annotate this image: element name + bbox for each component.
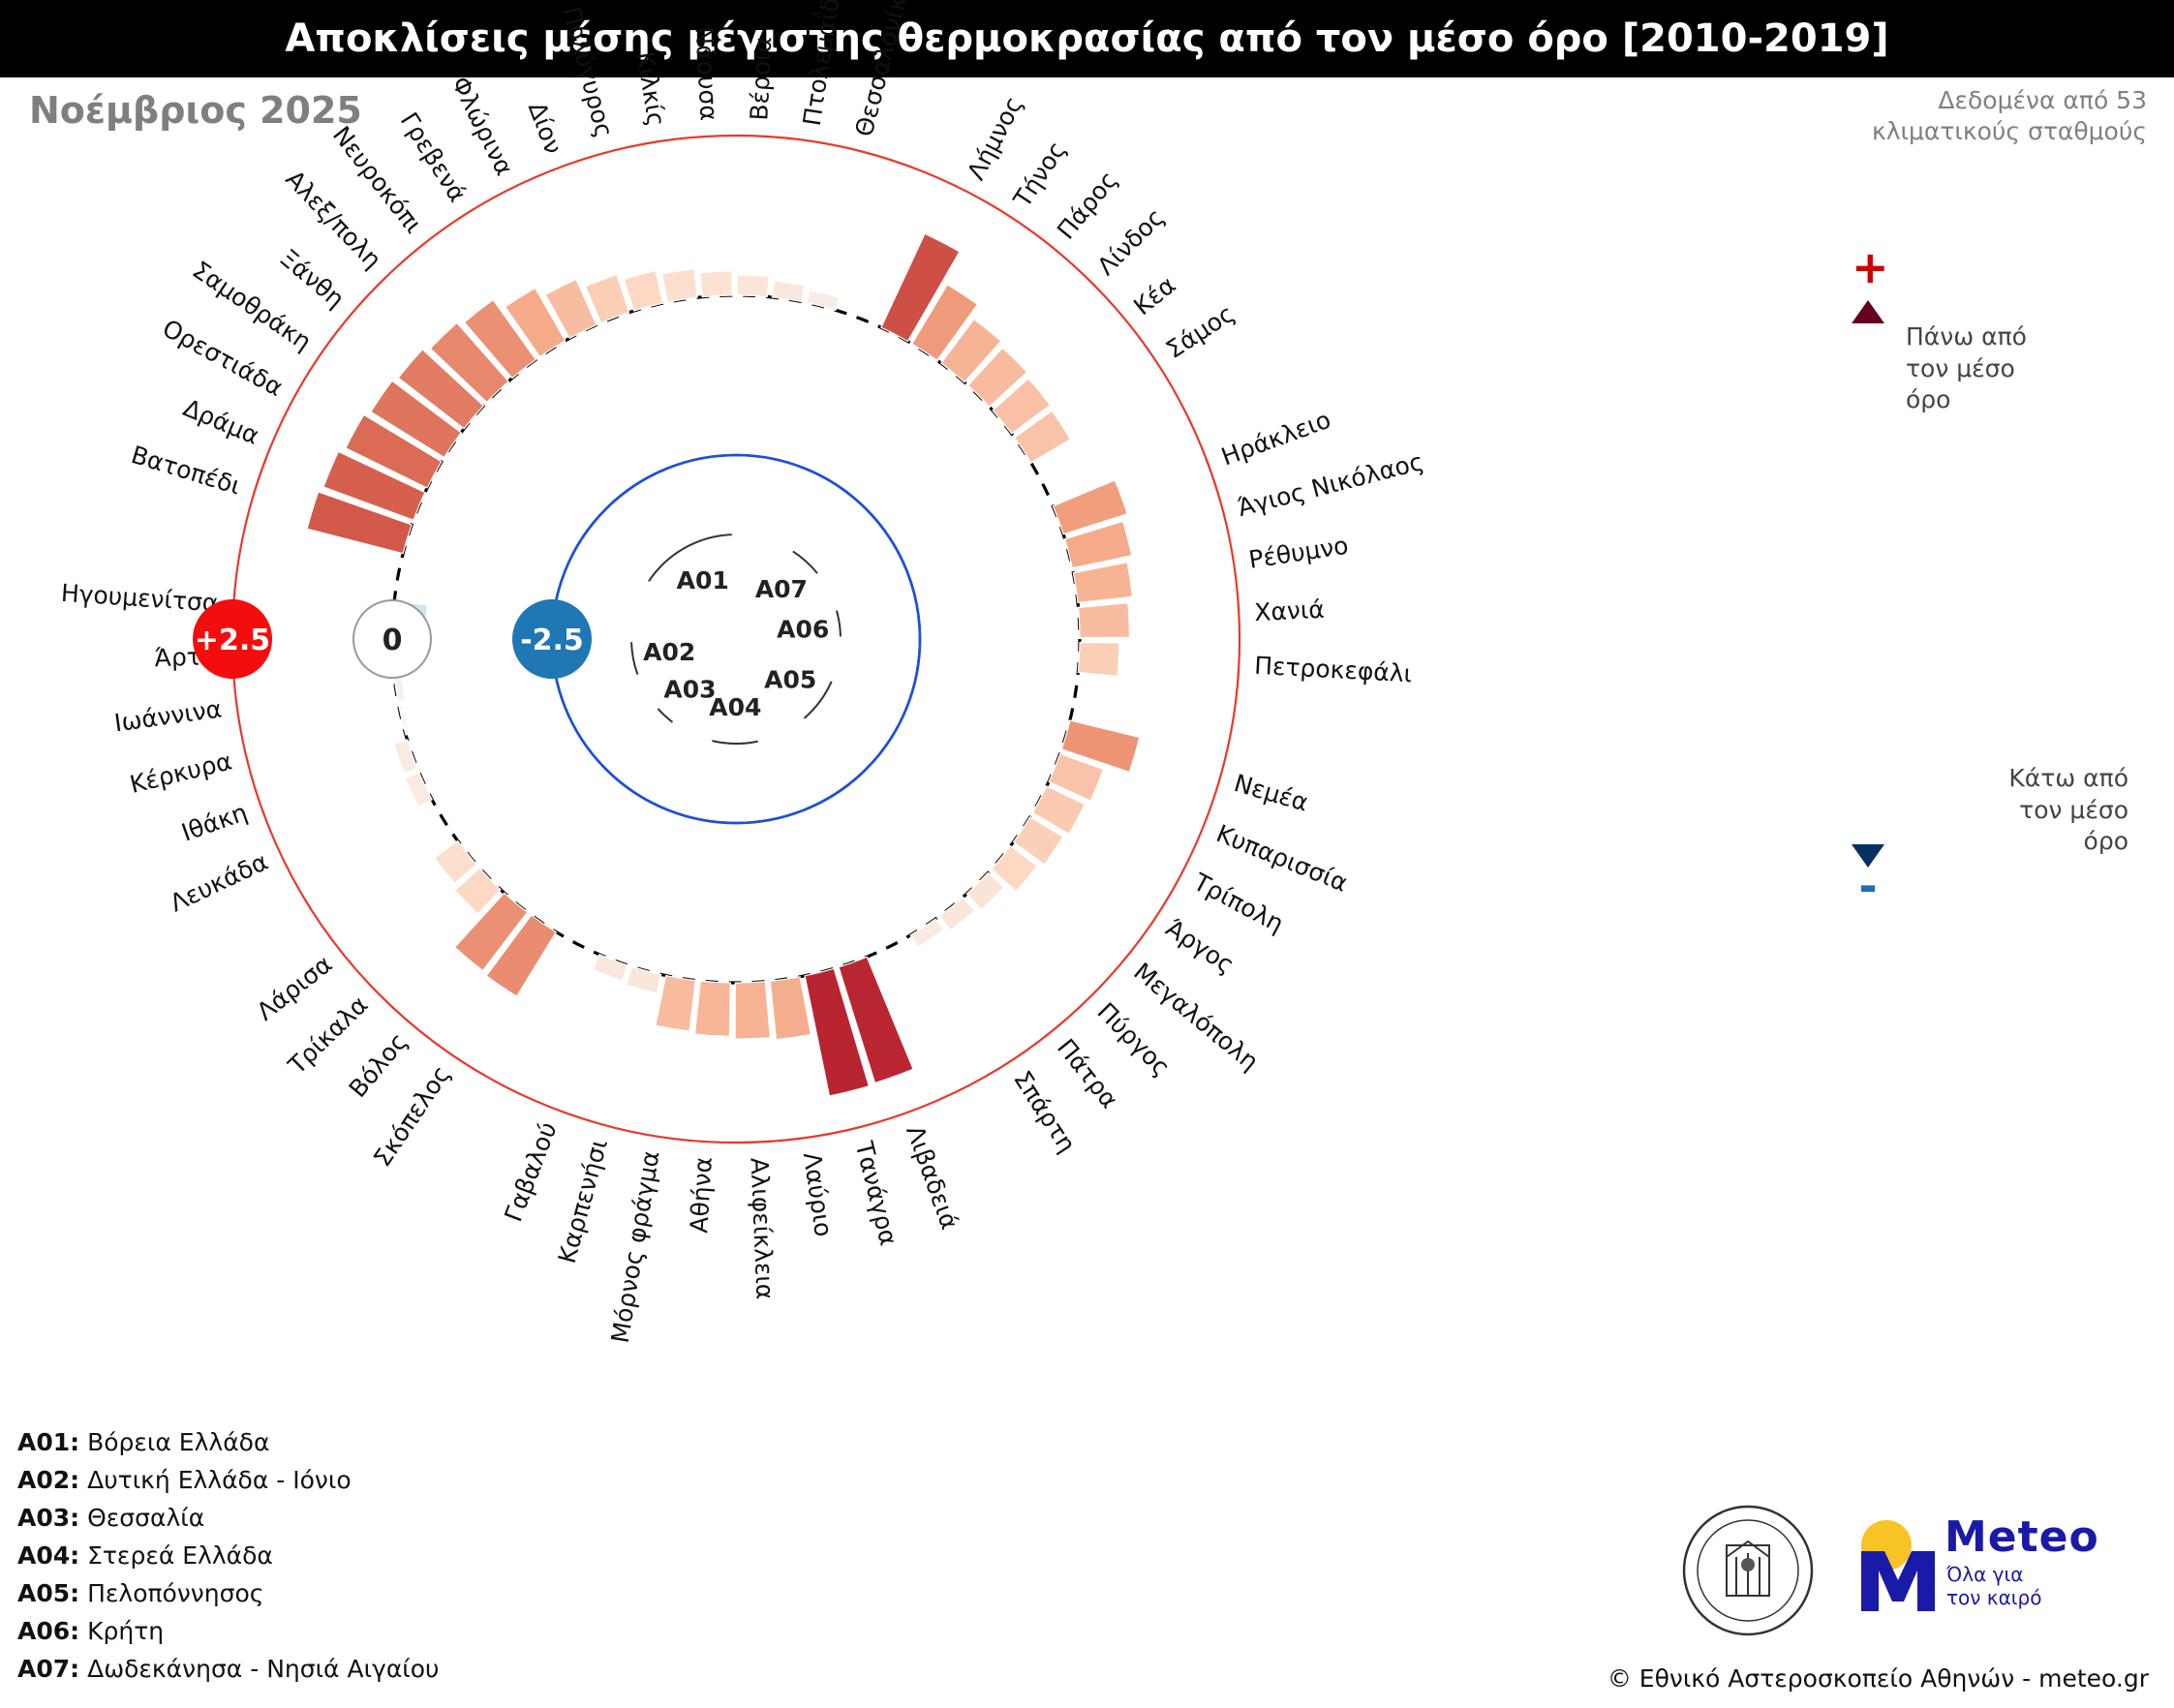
bar-segment[interactable] [807,290,840,311]
bar-segment[interactable] [593,955,628,981]
region-key-row: A04: Στερεά Ελλάδα [17,1537,440,1574]
station-label: Δράμα [179,393,263,449]
station-label: Ρέθυμνο [1247,532,1351,574]
footer-credit: © Εθνικό Αστεροσκοπείο Αθηνών - meteo.gr [1608,1664,2149,1693]
region-key-code: A06: [17,1617,79,1645]
station-label: Άγιος Νικόλαος [1235,447,1426,522]
legend-arrow-top [1852,300,1884,323]
station-label: Κέα [1128,271,1180,321]
color-legend: + - Πάνω από τον μέσο όρο Κάτω από τον μ… [1830,271,2150,930]
legend-colorbar [1852,321,1884,844]
station-label: Άργος [1161,914,1240,979]
region-key-row: A06: Κρήτη [17,1612,440,1650]
station-label: Πάρος [1052,166,1123,244]
region-arc [658,709,672,722]
region-key-name: Δυτική Ελλάδα - Ιόνιο [79,1466,352,1494]
source-note-line2: κλιματικούς σταθμούς [1872,116,2147,147]
legend-plus-symbol: + [1852,248,1884,287]
station-label: Κέρκυρα [127,747,234,799]
station-label: Τανάγρα [849,1138,903,1248]
ring-minus-label: -2.5 [520,624,584,657]
station-label: Λαύριο [798,1150,838,1238]
region-code-label-a03: A03 [663,675,716,703]
station-label: Λάρισα [252,950,338,1026]
ring-plus: +2.5 [194,600,271,678]
station-label: Πύργος [1092,997,1177,1082]
source-note-line1: Δεδομένα από 53 [1872,85,2147,116]
page-title: Αποκλίσεις μέσης μέγιστης θερμοκρασίας α… [285,16,1888,61]
region-arc [837,611,841,637]
station-label: Λήμνος [962,92,1028,185]
region-key-code: A02: [17,1466,79,1494]
region-code-label-a02: A02 [643,638,695,666]
legend-minus-symbol: - [1852,871,1884,900]
region-key-name: Κρήτη [79,1617,164,1645]
region-key-row: A02: Δυτική Ελλάδα - Ιόνιο [17,1461,440,1499]
station-label: Ιωάννινα [112,694,224,737]
station-label: Λευκάδα [166,847,272,917]
bar-segment[interactable] [737,275,769,297]
station-label: Τήνος [1007,137,1071,213]
meteo-tagline-line2: τον καιρό [1946,1586,2041,1609]
station-label: Πάτρα [1052,1033,1123,1113]
station-label: Σπάρτη [1008,1066,1082,1158]
bar-segment[interactable] [939,898,974,930]
region-key-row: A01: Βόρεια Ελλάδα [17,1423,440,1461]
legend-above-label: Πάνω από τον μέσο όρο [1906,321,2027,416]
region-key-name: Θεσσαλία [79,1504,204,1532]
bar-segment[interactable] [695,981,731,1036]
bar-segment[interactable] [662,269,698,302]
station-label: Λίνδος [1092,203,1170,281]
station-label: Μόρνος φράγμα [606,1148,665,1345]
inner-circle [552,455,920,823]
station-label: Βατοπέδι [128,441,244,501]
bar-segment[interactable] [405,773,432,807]
region-arc [793,551,817,573]
bar-segment[interactable] [656,976,695,1031]
region-key-code: A03: [17,1504,79,1532]
ring-zero-line [392,295,1080,983]
radial-bar-chart: A01A07A06A05A04A03A02ΒατοπέδιΔράμαΟρεστι… [0,58,1695,1627]
bar-segment[interactable] [700,271,732,297]
region-key-code: A05: [17,1579,79,1607]
region-key-name: Βόρεια Ελλάδα [79,1428,269,1456]
ring-negative [552,455,920,823]
chart-canvas: A01A07A06A05A04A03A02ΒατοπέδιΔράμαΟρεστι… [0,58,1695,1627]
legend-above-line1: Πάνω από [1906,321,2027,353]
station-label: Βόλος [344,1027,413,1103]
region-key-code: A01: [17,1428,79,1456]
legend-above-line3: όρο [1906,384,2027,416]
station-label: Τρίπολη [1188,868,1288,938]
meteo-logo-tagline: Όλα για τον καιρό [1946,1563,2041,1609]
bar-segment[interactable] [1079,603,1130,638]
source-note: Δεδομένα από 53 κλιματικούς σταθμούς [1872,85,2147,147]
region-code-label-a01: A01 [677,566,729,595]
region-key-name: Πελοπόννησος [79,1579,263,1607]
region-key-row: A03: Θεσσαλία [17,1499,440,1537]
ring-zero: 0 [353,600,431,678]
station-label: Αθήνα [685,1156,718,1234]
region-key-code: A07: [17,1655,79,1683]
station-label: Γρεβενά [395,107,473,207]
region-key-code: A04: [17,1541,79,1570]
region-arc [712,741,757,744]
station-label: Πετροκεφάλι [1254,652,1413,688]
ring-minus: -2.5 [513,600,591,678]
bar-segment[interactable] [735,982,770,1039]
bar-segment[interactable] [770,977,811,1040]
station-label: Βέροια [745,36,777,121]
region-key-row: A07: Δωδεκάνησα - Νησιά Αιγαίου [17,1650,440,1688]
region-code-label-a05: A05 [764,666,816,694]
bar-segment[interactable] [966,872,1004,909]
bar-segment[interactable] [1073,563,1132,603]
region-key-name: Στερεά Ελλάδα [79,1541,273,1570]
bar-segment[interactable] [624,271,662,311]
meteo-logo-text: Meteo [1944,1512,2099,1562]
legend-below-line2: τον μέσο [1906,795,2128,827]
station-label: Δίον [523,98,567,158]
station-label: Καρπενήσι [553,1136,613,1266]
meteo-logo: Meteo Όλα για τον καιρό [1840,1507,2130,1632]
meteo-tagline-line1: Όλα για [1946,1563,2041,1586]
station-label: Ηράκλειο [1217,406,1334,472]
ring-zero-label: 0 [383,624,403,657]
station-label: Ξάνθη [274,244,350,314]
station-label: Νεμέα [1231,769,1311,817]
station-label: Χανιά [1254,595,1326,626]
station-label: Ιθάκη [178,798,251,847]
region-key-row: A05: Πελοπόννησος [17,1574,440,1612]
station-label: Κιλκίς [631,49,671,128]
region-code-label-a07: A07 [755,575,808,603]
region-code-label-a06: A06 [777,616,829,644]
region-key-name: Δωδεκάνησα - Νησιά Αιγαίου [79,1655,439,1683]
station-label: Ηγουμενίτσα [60,579,219,618]
legend-above-line2: τον μέσο [1906,353,2027,385]
region-code-label-a04: A04 [709,693,761,721]
legend-below-line1: Κάτω από [1906,763,2128,795]
station-label: Λιβαδειά [901,1122,964,1234]
noa-logo [1680,1503,1816,1638]
region-key: A01: Βόρεια ΕλλάδαA02: Δυτική Ελλάδα - Ι… [17,1423,440,1688]
bar-segment[interactable] [627,966,661,992]
legend-below-line3: όρο [1906,826,2128,858]
bar-segment[interactable] [1078,642,1119,676]
legend-below-label: Κάτω από τον μέσο όρο [1906,763,2128,858]
station-label: Φλώρινα [446,72,519,180]
station-label: Σάμος [1161,299,1240,364]
station-label: Νάουσα [689,26,722,122]
ring-plus-label: +2.5 [195,624,270,657]
station-label: Αλιφείκλεια [745,1157,779,1300]
region-arc [631,642,637,674]
station-label: Γαβαλού [499,1118,562,1226]
